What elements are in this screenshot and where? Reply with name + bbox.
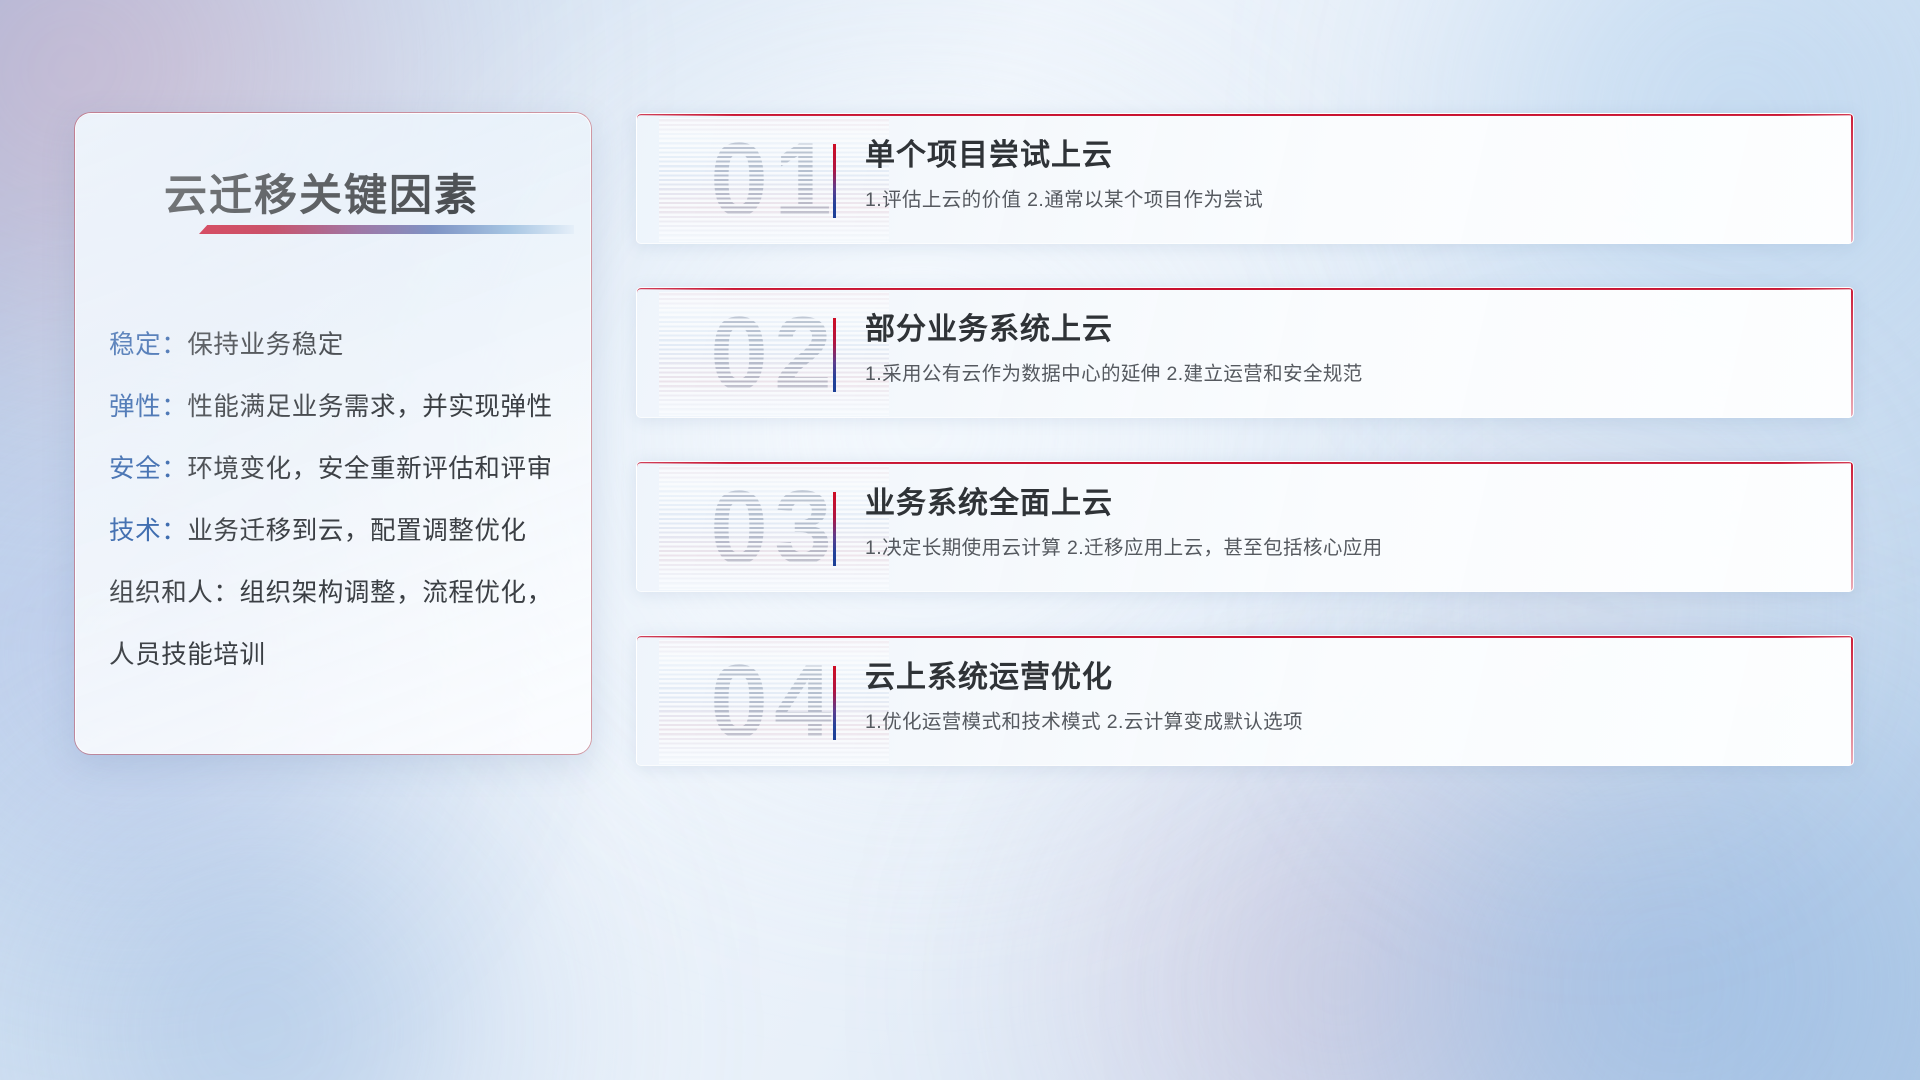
step-number-watermark: 03: [659, 466, 889, 590]
step-divider-bar: [833, 318, 836, 392]
list-item: 弹性：性能满足业务需求，并实现弹性: [76, 376, 590, 438]
factor-value: 组织架构调整，流程优化，: [240, 579, 553, 607]
key-factors-card: 云迁移关键因素 稳定：保持业务稳定 弹性：性能满足业务需求，并实现弹性 安全：环…: [75, 113, 591, 754]
step-content: 单个项目尝试上云 1.评估上云的价值 2.通常以某个项目作为尝试: [865, 136, 1829, 213]
step-card-03[interactable]: 03 业务系统全面上云 1.决定长期使用云计算 2.迁移应用上云，甚至包括核心应…: [636, 461, 1854, 592]
step-number: 04: [659, 640, 889, 764]
step-title: 业务系统全面上云: [865, 484, 1829, 524]
factor-label: 安全：: [109, 455, 187, 483]
step-content: 部分业务系统上云 1.采用公有云作为数据中心的延伸 2.建立运营和安全规范: [865, 310, 1829, 387]
page-title: 云迁移关键因素: [164, 161, 479, 223]
step-description: 1.采用公有云作为数据中心的延伸 2.建立运营和安全规范: [865, 361, 1829, 387]
list-item: 稳定：保持业务稳定: [76, 314, 590, 376]
factor-label: 技术：: [109, 517, 187, 545]
list-item: 人员技能培训: [76, 624, 590, 686]
list-item: 组织和人：组织架构调整，流程优化，: [76, 562, 590, 624]
step-divider-bar: [833, 492, 836, 566]
factor-value: 业务迁移到云，配置调整优化: [187, 517, 526, 545]
title-underline-rule: [199, 225, 574, 234]
step-number-watermark: 02: [659, 292, 889, 416]
step-title: 部分业务系统上云: [865, 310, 1829, 350]
migration-steps-list: 01 单个项目尝试上云 1.评估上云的价值 2.通常以某个项目作为尝试 02 部…: [636, 113, 1854, 809]
list-item: 安全：环境变化，安全重新评估和评审: [76, 438, 590, 500]
step-number-watermark: 01: [659, 118, 889, 242]
factor-label: 组织和人：: [109, 579, 240, 607]
key-factors-list: 稳定：保持业务稳定 弹性：性能满足业务需求，并实现弹性 安全：环境变化，安全重新…: [76, 314, 590, 686]
step-divider-bar: [833, 144, 836, 218]
step-description: 1.评估上云的价值 2.通常以某个项目作为尝试: [865, 187, 1829, 213]
step-divider-bar: [833, 666, 836, 740]
slide-stage: 云迁移关键因素 稳定：保持业务稳定 弹性：性能满足业务需求，并实现弹性 安全：环…: [0, 0, 1920, 1080]
step-number: 02: [659, 292, 889, 416]
factor-label: 稳定：: [109, 331, 187, 359]
step-title: 单个项目尝试上云: [865, 136, 1829, 176]
factor-value: 性能满足业务需求，并实现弹性: [187, 393, 552, 421]
factor-label: 弹性：: [109, 393, 187, 421]
step-card-04[interactable]: 04 云上系统运营优化 1.优化运营模式和技术模式 2.云计算变成默认选项: [636, 635, 1854, 766]
factor-value: 环境变化，安全重新评估和评审: [187, 455, 552, 483]
step-number: 01: [659, 118, 889, 242]
step-card-01[interactable]: 01 单个项目尝试上云 1.评估上云的价值 2.通常以某个项目作为尝试: [636, 113, 1854, 244]
step-number: 03: [659, 466, 889, 590]
step-card-02[interactable]: 02 部分业务系统上云 1.采用公有云作为数据中心的延伸 2.建立运营和安全规范: [636, 287, 1854, 418]
step-description: 1.优化运营模式和技术模式 2.云计算变成默认选项: [865, 709, 1829, 735]
step-title: 云上系统运营优化: [865, 658, 1829, 698]
step-content: 云上系统运营优化 1.优化运营模式和技术模式 2.云计算变成默认选项: [865, 658, 1829, 735]
step-description: 1.决定长期使用云计算 2.迁移应用上云，甚至包括核心应用: [865, 535, 1829, 561]
list-item: 技术：业务迁移到云，配置调整优化: [76, 500, 590, 562]
factor-value: 人员技能培训: [109, 641, 266, 669]
factor-value: 保持业务稳定: [187, 331, 344, 359]
step-number-watermark: 04: [659, 640, 889, 764]
step-content: 业务系统全面上云 1.决定长期使用云计算 2.迁移应用上云，甚至包括核心应用: [865, 484, 1829, 561]
